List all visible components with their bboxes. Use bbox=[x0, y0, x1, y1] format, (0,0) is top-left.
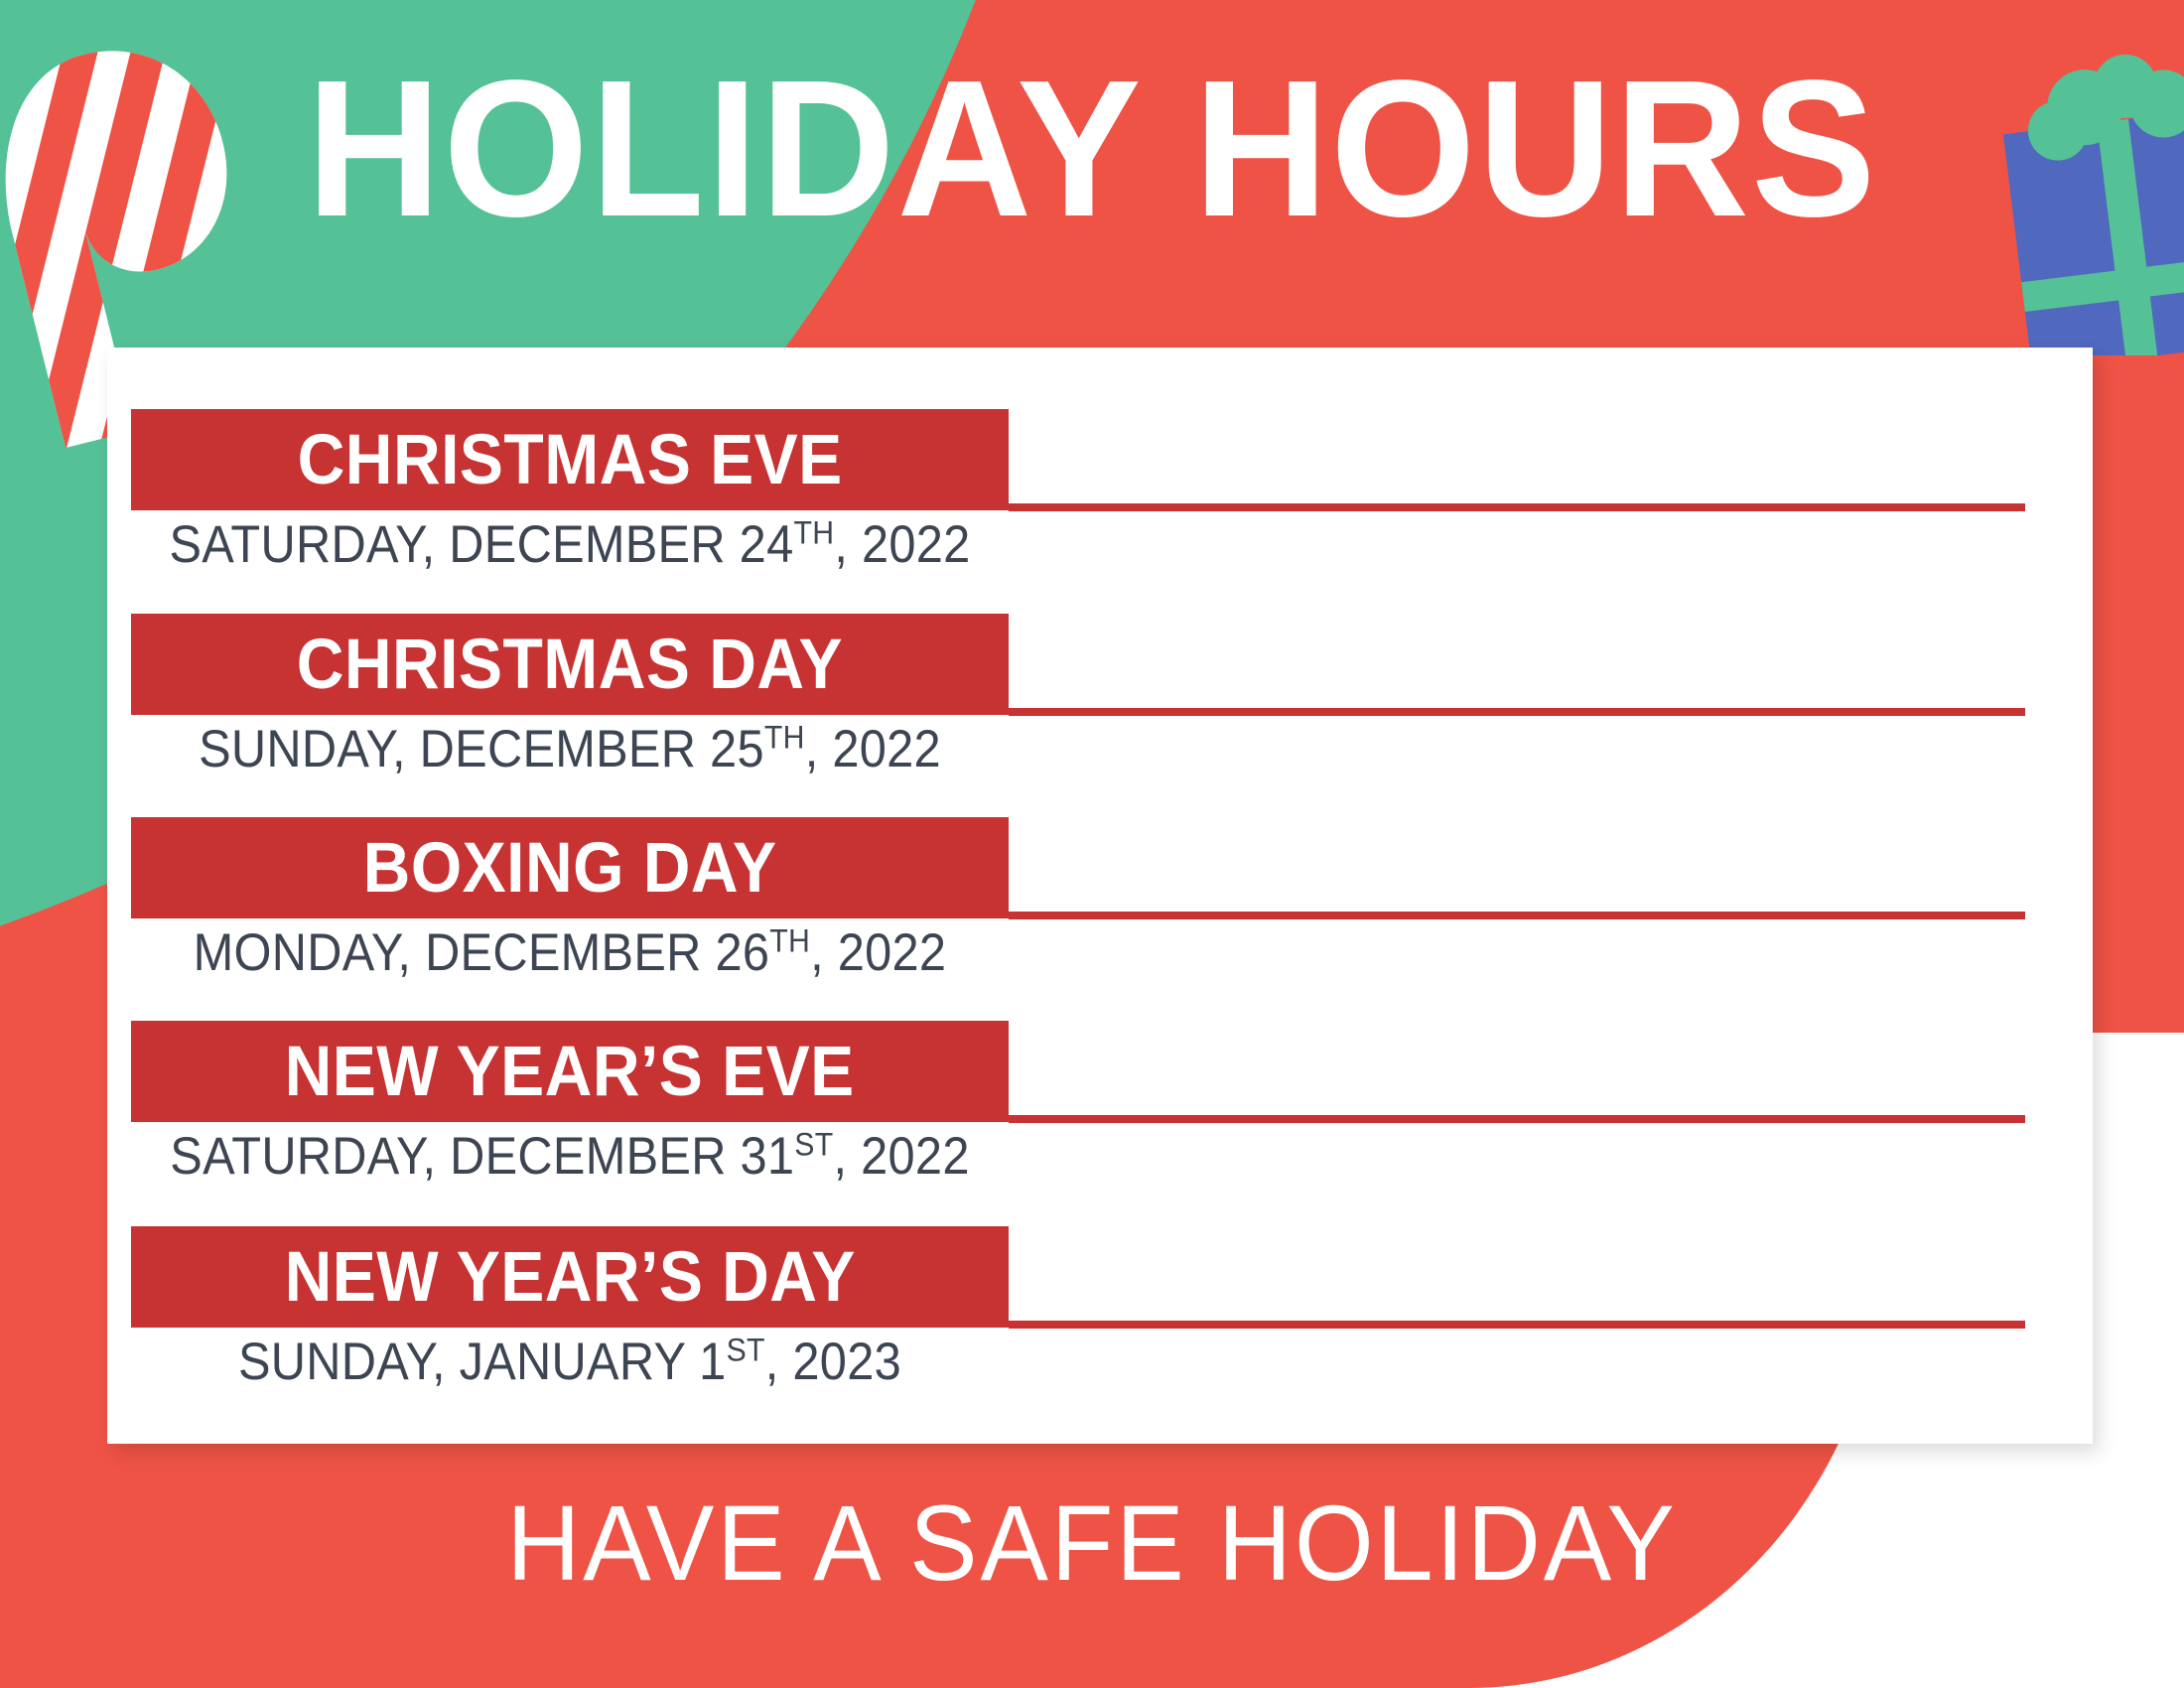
holiday-date-prefix: MONDAY, DECEMBER 26 bbox=[194, 923, 770, 982]
hours-rule-line bbox=[1009, 1321, 2025, 1329]
holiday-date-suffix: , 2023 bbox=[765, 1333, 901, 1391]
holiday-date-suffix: , 2022 bbox=[834, 515, 970, 574]
holiday-date-ordinal: TH bbox=[764, 718, 805, 755]
hours-row: CHRISTMAS EVE SATURDAY, DECEMBER 24TH, 2… bbox=[107, 409, 2093, 613]
holiday-banner: CHRISTMAS DAY bbox=[131, 614, 1009, 715]
hours-row-list: CHRISTMAS EVE SATURDAY, DECEMBER 24TH, 2… bbox=[107, 348, 2093, 1444]
hours-rule-line bbox=[1009, 503, 2025, 511]
holiday-date: SUNDAY, JANUARY 1ST, 2023 bbox=[166, 1330, 973, 1395]
holiday-date-prefix: SUNDAY, JANUARY 1 bbox=[238, 1333, 727, 1391]
footer-message: HAVE A SAFE HOLIDAY bbox=[55, 1489, 2129, 1597]
holiday-date-prefix: SUNDAY, DECEMBER 25 bbox=[199, 720, 764, 778]
hours-rule-line bbox=[1009, 708, 2025, 716]
holiday-date-ordinal: TH bbox=[793, 513, 834, 550]
holiday-date-ordinal: TH bbox=[769, 921, 810, 958]
hours-rule-line bbox=[1009, 1115, 2025, 1123]
hours-row: CHRISTMAS DAY SUNDAY, DECEMBER 25TH, 202… bbox=[107, 614, 2093, 817]
holiday-date-ordinal: ST bbox=[727, 1331, 765, 1367]
hours-card: CHRISTMAS EVE SATURDAY, DECEMBER 24TH, 2… bbox=[107, 348, 2093, 1444]
holiday-date: SATURDAY, DECEMBER 31ST, 2022 bbox=[166, 1124, 973, 1190]
holiday-name: NEW YEAR’S DAY bbox=[284, 1242, 855, 1313]
holiday-name: CHRISTMAS DAY bbox=[297, 630, 843, 700]
hours-row: NEW YEAR’S DAY SUNDAY, JANUARY 1ST, 2023 bbox=[107, 1226, 2093, 1430]
holiday-date: MONDAY, DECEMBER 26TH, 2022 bbox=[166, 920, 973, 986]
hours-rule-line bbox=[1009, 912, 2025, 919]
holiday-date: SATURDAY, DECEMBER 24TH, 2022 bbox=[166, 512, 973, 578]
holiday-hours-poster: HOLIDAY HOURS CHRISTMAS EVE SATURDAY, bbox=[0, 0, 2184, 1688]
holiday-date-prefix: SATURDAY, DECEMBER 24 bbox=[169, 515, 793, 574]
page-title: HOLIDAY HOURS bbox=[44, 52, 2140, 246]
holiday-date-suffix: , 2022 bbox=[805, 720, 941, 778]
holiday-banner: NEW YEAR’S EVE bbox=[131, 1021, 1009, 1122]
holiday-date-ordinal: ST bbox=[794, 1125, 833, 1162]
holiday-name: NEW YEAR’S EVE bbox=[285, 1037, 855, 1107]
holiday-banner: BOXING DAY bbox=[131, 817, 1009, 918]
hours-row: BOXING DAY MONDAY, DECEMBER 26TH, 2022 bbox=[107, 817, 2093, 1021]
holiday-name: BOXING DAY bbox=[363, 833, 777, 904]
holiday-banner: CHRISTMAS EVE bbox=[131, 409, 1009, 510]
holiday-date-prefix: SATURDAY, DECEMBER 31 bbox=[170, 1127, 794, 1186]
holiday-date-suffix: , 2022 bbox=[810, 923, 946, 982]
gift-box-icon bbox=[1961, 28, 2184, 355]
holiday-name: CHRISTMAS EVE bbox=[297, 425, 842, 495]
holiday-date: SUNDAY, DECEMBER 25TH, 2022 bbox=[166, 717, 973, 782]
holiday-banner: NEW YEAR’S DAY bbox=[131, 1226, 1009, 1328]
holiday-date-suffix: , 2022 bbox=[833, 1127, 969, 1186]
hours-row: NEW YEAR’S EVE SATURDAY, DECEMBER 31ST, … bbox=[107, 1021, 2093, 1224]
